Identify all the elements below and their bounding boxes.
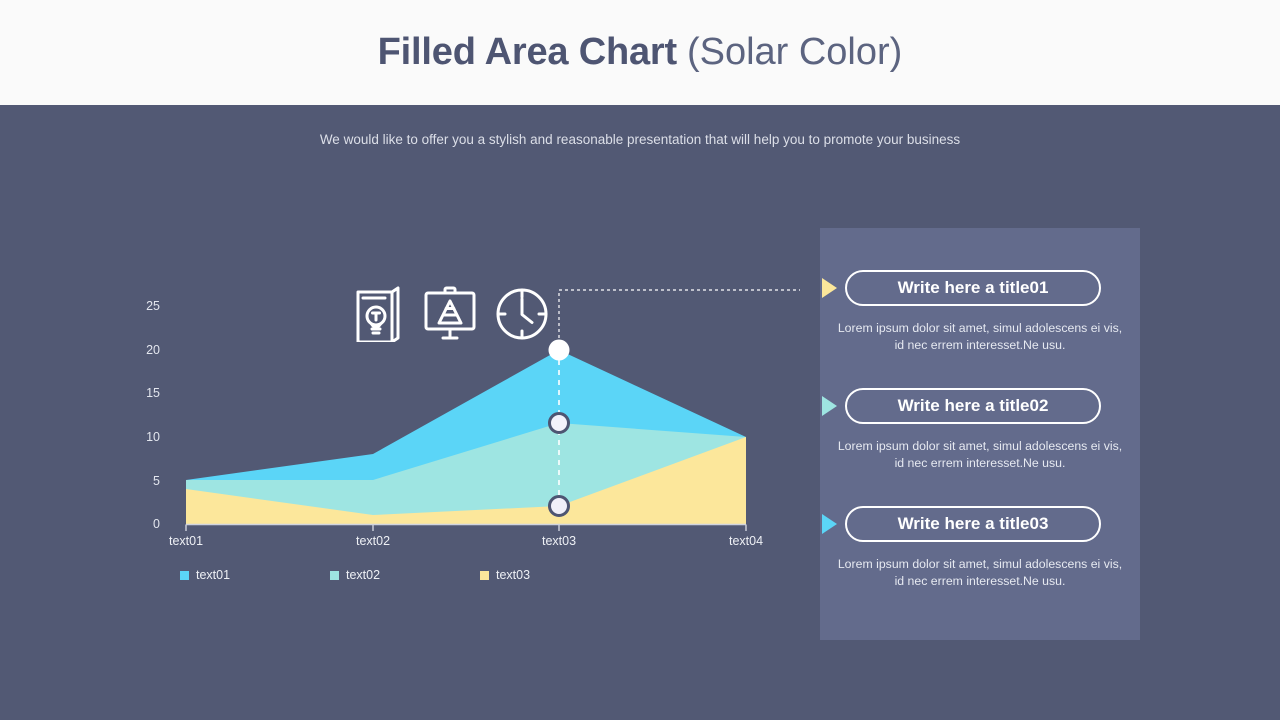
marker-series-text01[interactable] (549, 340, 570, 361)
page-title-bold: Filled Area Chart (378, 31, 677, 73)
x-tick-text03: text03 (514, 534, 604, 548)
triangle-right-icon (822, 396, 837, 416)
panel-item-title: Write here a title02 (898, 396, 1049, 416)
panel-item-description: Lorem ipsum dolor sit amet, simul adoles… (820, 438, 1140, 472)
legend-label: text02 (346, 568, 380, 582)
legend-item-text03[interactable]: text03 (480, 568, 630, 582)
panel-item-02-header: Write here a title02 (820, 388, 1140, 424)
marker-series-text03[interactable] (550, 497, 569, 516)
callout-elbow-line (559, 290, 800, 350)
panel-item-02: Write here a title02 Lorem ipsum dolor s… (820, 388, 1140, 472)
panel-item-description: Lorem ipsum dolor sit amet, simul adoles… (820, 320, 1140, 354)
marker-series-text02[interactable] (550, 414, 569, 433)
legend-item-text02[interactable]: text02 (330, 568, 480, 582)
legend-swatch-icon (480, 571, 489, 580)
panel-item-02-title-pill[interactable]: Write here a title02 (845, 388, 1101, 424)
legend-swatch-icon (180, 571, 189, 580)
page-title: Filled Area Chart(Solar Color) (378, 31, 903, 74)
legend-item-text01[interactable]: text01 (180, 568, 330, 582)
panel-item-03-header: Write here a title03 (820, 506, 1140, 542)
legend-label: text01 (196, 568, 230, 582)
x-axis-ticks (186, 525, 746, 532)
legend-label: text03 (496, 568, 530, 582)
panel-item-01-title-pill[interactable]: Write here a title01 (845, 270, 1101, 306)
page-subtitle: We would like to offer you a stylish and… (0, 132, 1280, 147)
area-chart: 25 20 15 10 5 0 text01 text02 text03 tex… (120, 280, 800, 600)
panel-item-01: Write here a title01 Lorem ipsum dolor s… (820, 270, 1140, 354)
panel-item-title: Write here a title03 (898, 514, 1049, 534)
x-tick-text01: text01 (141, 534, 231, 548)
triangle-right-icon (822, 278, 837, 298)
page-header: Filled Area Chart(Solar Color) (0, 0, 1280, 105)
panel-item-03-title-pill[interactable]: Write here a title03 (845, 506, 1101, 542)
triangle-right-icon (822, 514, 837, 534)
chart-legend: text01 text02 text03 (180, 568, 680, 582)
x-tick-text02: text02 (328, 534, 418, 548)
page-title-light: (Solar Color) (687, 31, 902, 73)
panel-item-03: Write here a title03 Lorem ipsum dolor s… (820, 506, 1140, 590)
legend-swatch-icon (330, 571, 339, 580)
callout-panel: Write here a title01 Lorem ipsum dolor s… (820, 228, 1140, 640)
panel-item-title: Write here a title01 (898, 278, 1049, 298)
x-tick-text04: text04 (701, 534, 791, 548)
panel-item-description: Lorem ipsum dolor sit amet, simul adoles… (820, 556, 1140, 590)
panel-item-01-header: Write here a title01 (820, 270, 1140, 306)
